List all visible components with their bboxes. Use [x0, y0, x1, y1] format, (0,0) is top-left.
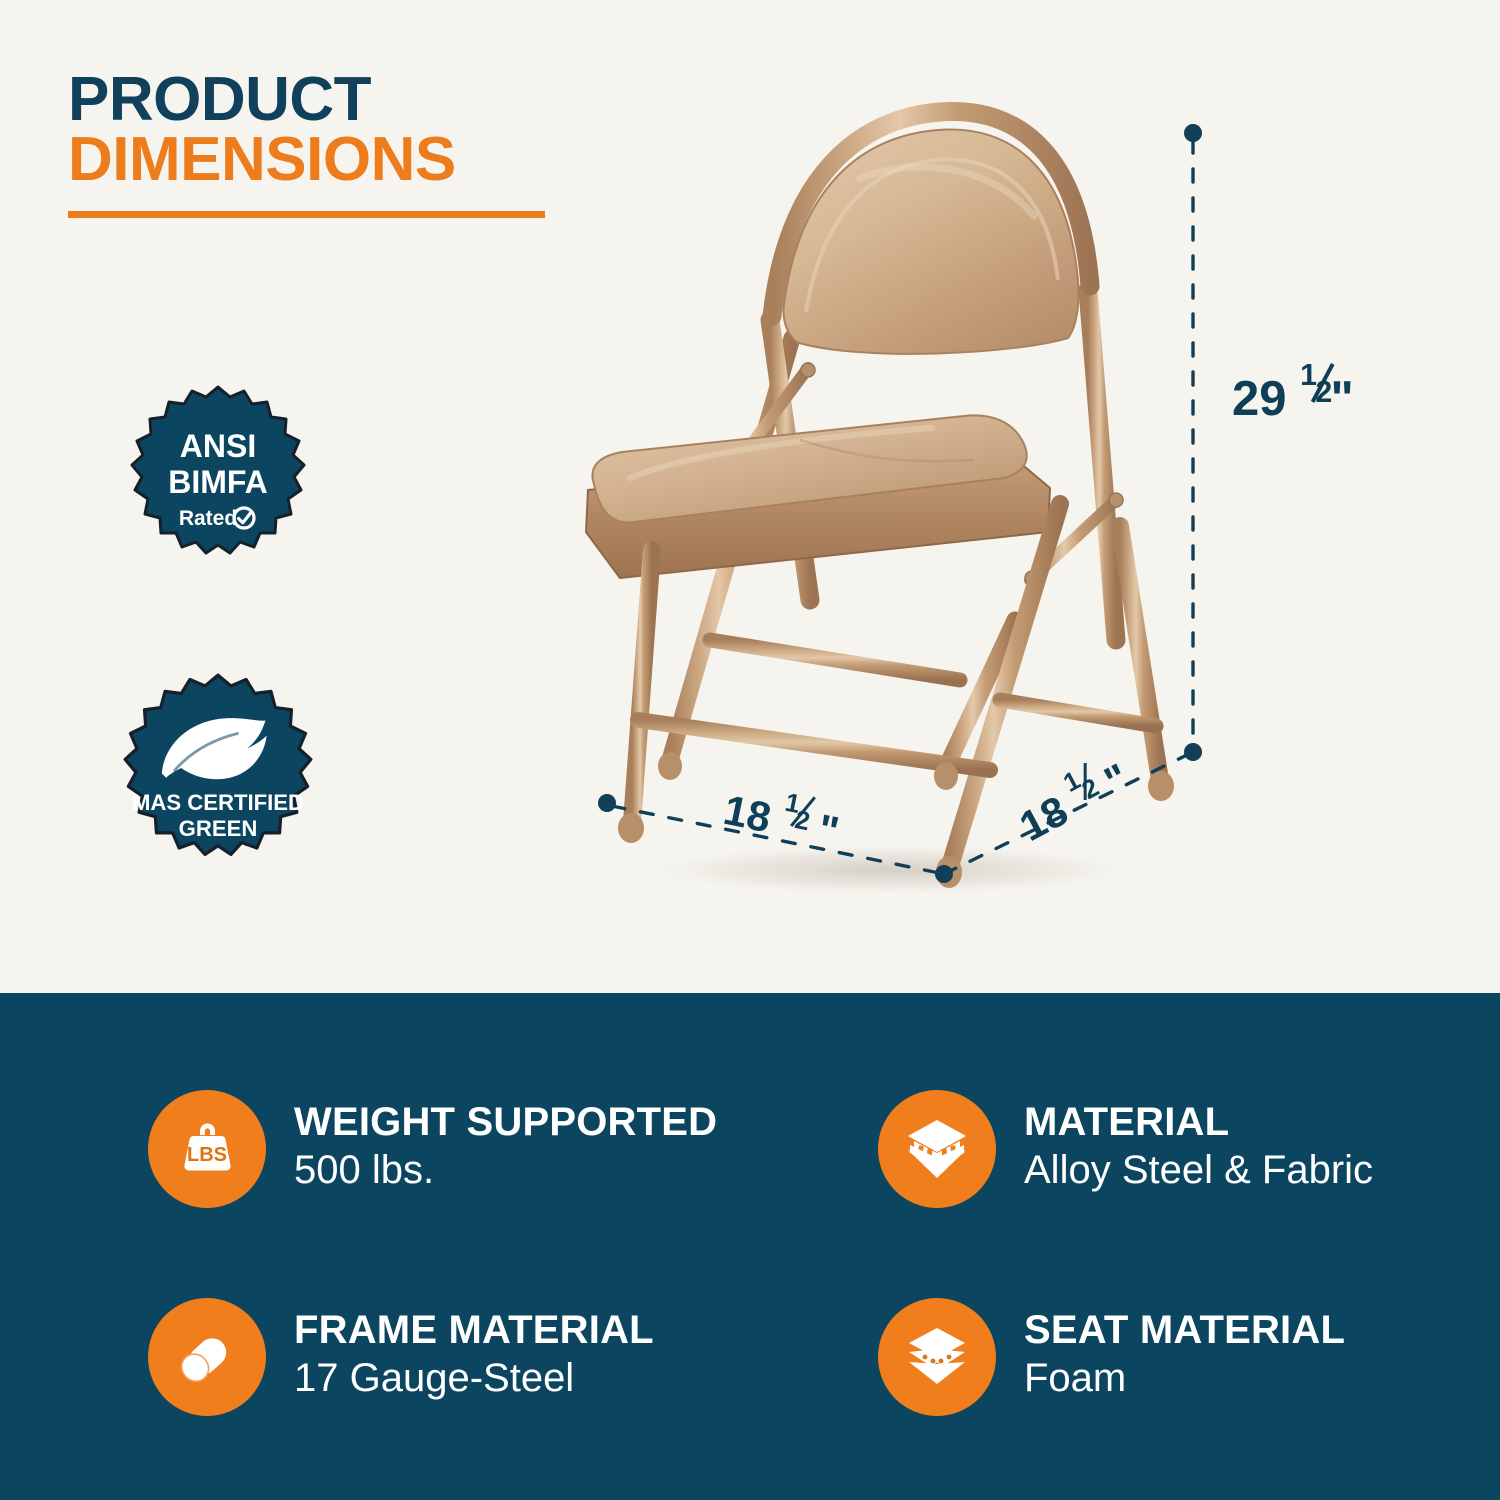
- foam-layers-icon: [878, 1298, 996, 1416]
- title-underline-rule: [68, 211, 545, 218]
- feature-title: MATERIAL: [1024, 1100, 1373, 1145]
- badge-ansi-line1: ANSI: [180, 428, 256, 464]
- feature-grid: LBS WEIGHT SUPPORTED 500 lbs.: [148, 1045, 1468, 1461]
- dimensions-section: PRODUCT DIMENSIONS ANSI BIMFA Rated: [0, 0, 1500, 993]
- weight-lbs-icon: LBS: [148, 1090, 266, 1208]
- front-cross-brace: [638, 720, 990, 770]
- page-title: PRODUCT DIMENSIONS: [68, 70, 588, 218]
- badge-mas-certified-green: MAS CERTIFIED GREEN: [110, 673, 326, 889]
- feature-frame-material: FRAME MATERIAL 17 Gauge-Steel: [148, 1253, 878, 1461]
- dimension-label-height: 29 12": [1222, 360, 1364, 433]
- side-cross-brace: [1000, 700, 1156, 726]
- feature-value: 17 Gauge-Steel: [294, 1355, 654, 1402]
- feature-text: SEAT MATERIAL Foam: [1024, 1308, 1345, 1406]
- product-image-folding-chair: [560, 80, 1280, 910]
- feature-material: MATERIAL Alloy Steel & Fabric: [878, 1045, 1468, 1253]
- specifications-panel: LBS WEIGHT SUPPORTED 500 lbs.: [0, 993, 1500, 1500]
- fraction-denominator: 2: [1315, 375, 1332, 410]
- svg-text:LBS: LBS: [187, 1144, 227, 1166]
- badge-green-line2: GREEN: [179, 816, 258, 841]
- dimension-height-unit: ": [1331, 372, 1354, 426]
- feature-text: MATERIAL Alloy Steel & Fabric: [1024, 1100, 1373, 1198]
- feature-text: WEIGHT SUPPORTED 500 lbs.: [294, 1100, 717, 1198]
- floor-shadow: [640, 844, 1140, 896]
- feature-weight-supported: LBS WEIGHT SUPPORTED 500 lbs.: [148, 1045, 878, 1253]
- steel-tube-icon: [148, 1298, 266, 1416]
- feature-title: WEIGHT SUPPORTED: [294, 1100, 717, 1145]
- feature-title: FRAME MATERIAL: [294, 1308, 654, 1353]
- layers-material-icon: [878, 1090, 996, 1208]
- feature-value: Foam: [1024, 1355, 1345, 1402]
- fraction-one-half: 12: [1300, 366, 1330, 415]
- dimension-height-whole: 29: [1232, 372, 1287, 426]
- title-line-dimensions: DIMENSIONS: [68, 130, 588, 190]
- feature-title: SEAT MATERIAL: [1024, 1308, 1345, 1353]
- title-line-product: PRODUCT: [68, 70, 588, 130]
- feature-value: 500 lbs.: [294, 1147, 717, 1194]
- feature-seat-material: SEAT MATERIAL Foam: [878, 1253, 1468, 1461]
- badge-ansi-line2: BIMFA: [168, 464, 268, 500]
- rear-cross-brace: [710, 640, 960, 680]
- badge-ansi-bimfa: ANSI BIMFA Rated: [118, 385, 318, 585]
- product-dimensions-infographic: PRODUCT DIMENSIONS ANSI BIMFA Rated: [0, 0, 1500, 1500]
- badge-green-line1: MAS CERTIFIED: [132, 790, 304, 815]
- badge-ansi-line3: Rated: [179, 507, 237, 530]
- feature-value: Alloy Steel & Fabric: [1024, 1147, 1373, 1194]
- feature-text: FRAME MATERIAL 17 Gauge-Steel: [294, 1308, 654, 1406]
